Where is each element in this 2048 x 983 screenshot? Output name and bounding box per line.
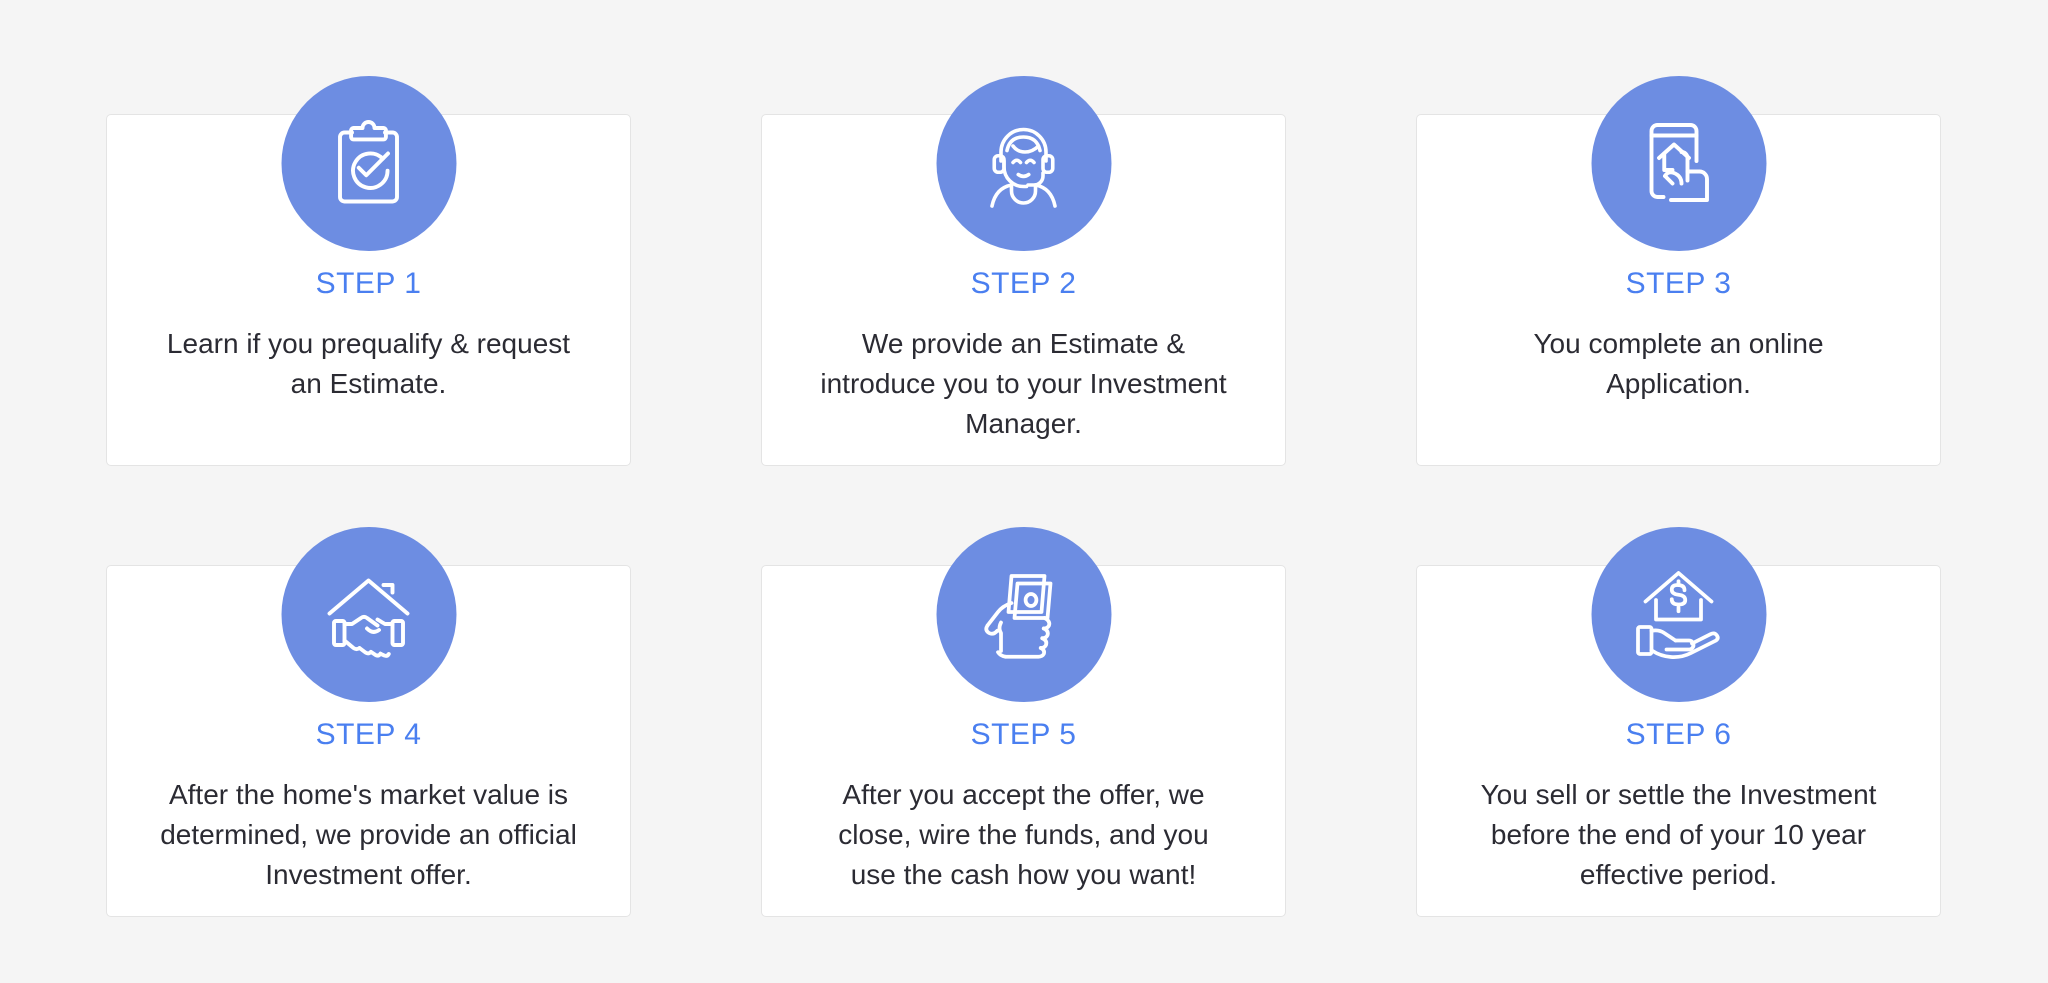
step-description: We provide an Estimate & introduce you t… [814, 324, 1234, 443]
step-icon-badge [1591, 527, 1766, 702]
house-dollar-on-palm-icon [1631, 567, 1727, 663]
step-card-3: STEP 3 You complete an online Applicatio… [1416, 76, 1941, 513]
step-icon-badge [281, 527, 456, 702]
step-card-4: STEP 4 After the home's market value is … [106, 527, 631, 964]
hand-holding-cash-icon [976, 567, 1072, 663]
step-icon-badge [936, 527, 1111, 702]
step-label: STEP 1 [316, 269, 422, 299]
phone-house-tap-icon [1631, 116, 1727, 212]
step-description: You complete an online Application. [1469, 324, 1889, 404]
headset-support-agent-icon [976, 116, 1072, 212]
step-label: STEP 5 [971, 720, 1077, 750]
how-it-works-steps-section: STEP 1 Learn if you prequalify & request… [0, 0, 2048, 983]
house-handshake-icon [321, 567, 417, 663]
step-description: After the home's market value is determi… [159, 775, 579, 894]
step-card-1: STEP 1 Learn if you prequalify & request… [106, 76, 631, 513]
step-label: STEP 6 [1626, 720, 1732, 750]
step-label: STEP 3 [1626, 269, 1732, 299]
step-icon-badge [1591, 76, 1766, 251]
step-description: You sell or settle the Investment before… [1469, 775, 1889, 894]
step-icon-badge [281, 76, 456, 251]
step-label: STEP 4 [316, 720, 422, 750]
steps-grid: STEP 1 Learn if you prequalify & request… [0, 0, 2048, 964]
step-description: Learn if you prequalify & request an Est… [159, 324, 579, 404]
step-icon-badge [936, 76, 1111, 251]
clipboard-check-icon [321, 116, 417, 212]
step-description: After you accept the offer, we close, wi… [814, 775, 1234, 894]
step-card-6: STEP 6 You sell or settle the Investment… [1416, 527, 1941, 964]
step-label: STEP 2 [971, 269, 1077, 299]
step-card-5: STEP 5 After you accept the offer, we cl… [761, 527, 1286, 964]
step-card-2: STEP 2 We provide an Estimate & introduc… [761, 76, 1286, 513]
